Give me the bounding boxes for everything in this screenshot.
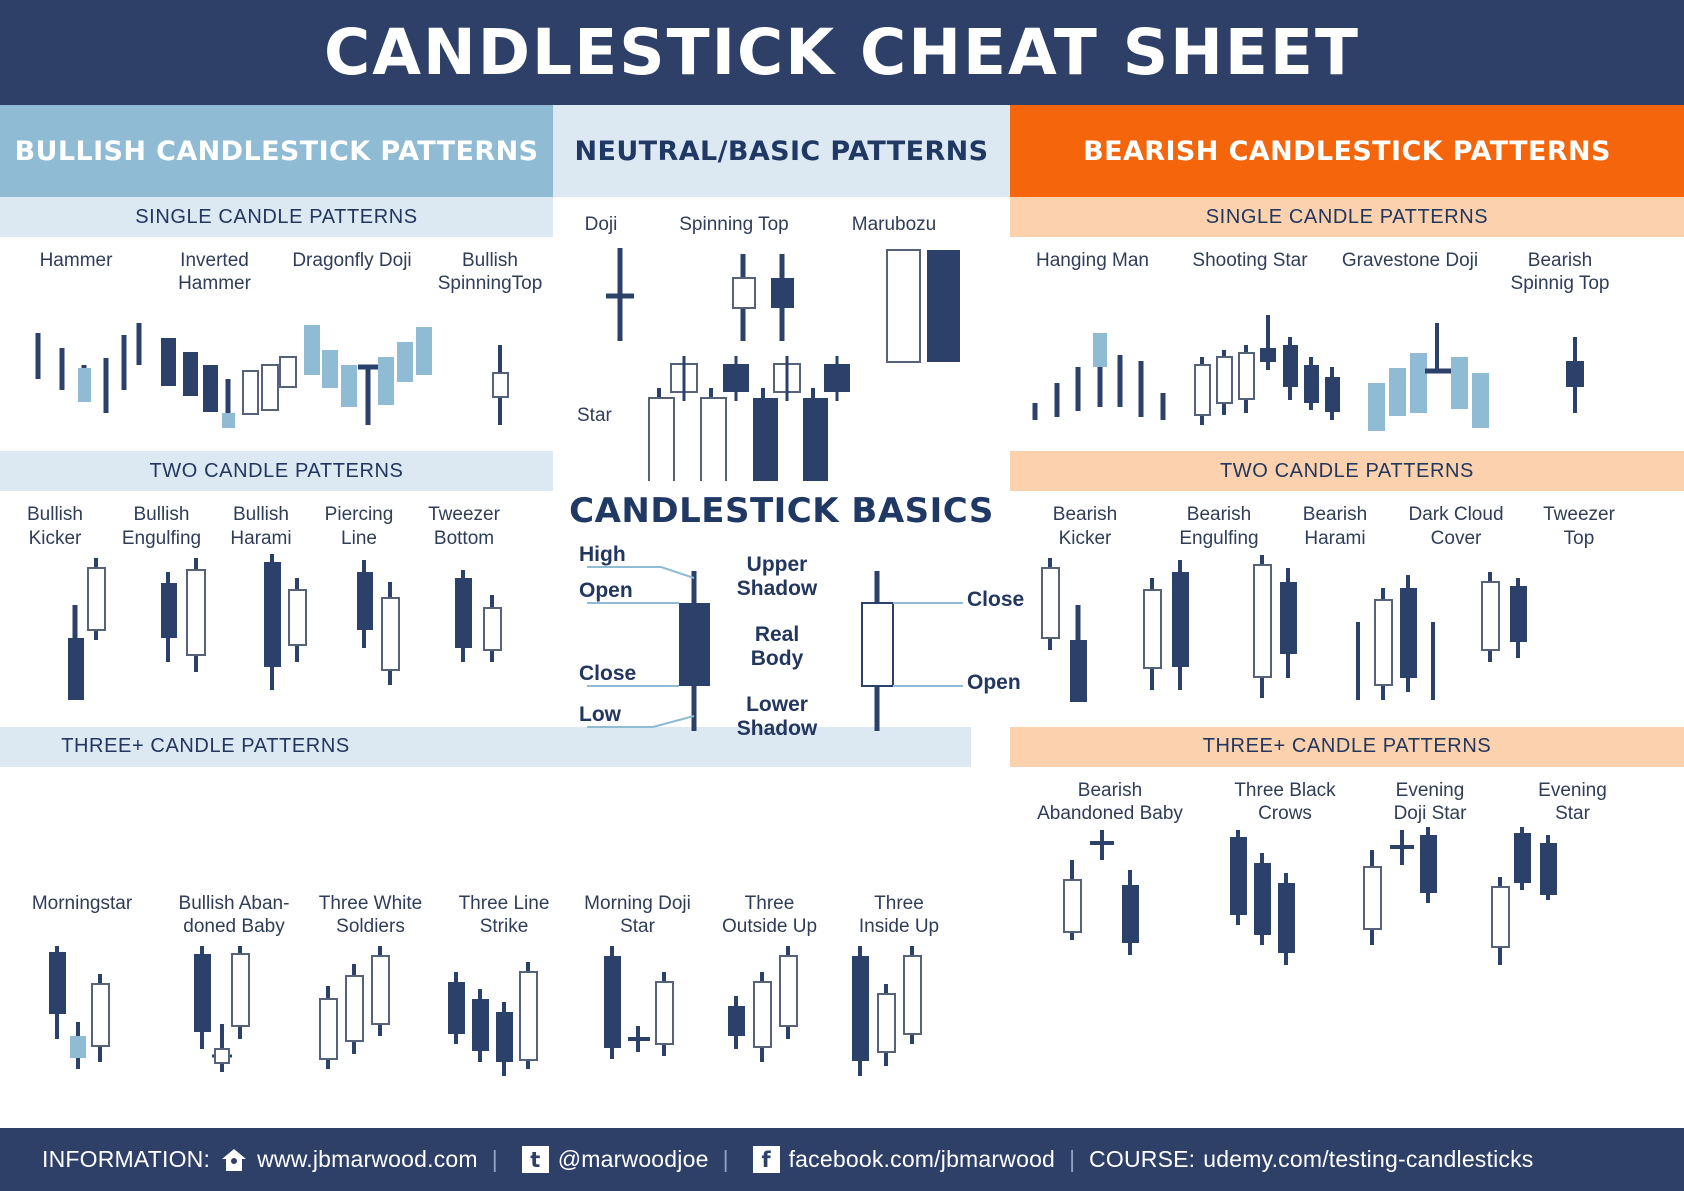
pattern-label: TweezerBottom [409, 491, 519, 549]
bearish-single-candles [1010, 295, 1684, 435]
column-header-neutral-label: NEUTRAL/BASIC PATTERNS [575, 136, 989, 167]
candle-body [78, 368, 91, 402]
bearish-single-band: SINGLE CANDLE PATTERNS [1010, 197, 1684, 237]
candlestick-basics-title: CANDLESTICK BASICS [553, 491, 1010, 531]
column-header-neutral: NEUTRAL/BASIC PATTERNS [553, 105, 1010, 197]
pattern-label: BearishSpinnig Top [1495, 237, 1625, 295]
footer-course-url[interactable]: udemy.com/testing-candlesticks [1203, 1146, 1533, 1173]
label-close: Close [579, 662, 636, 686]
label-high: High [579, 543, 626, 567]
pattern-label: ThreeInside Up [835, 880, 963, 938]
pattern-label: Three LineStrike [437, 880, 571, 938]
facebook-icon[interactable]: f [753, 1146, 780, 1173]
star-label: Star [577, 405, 612, 427]
bearish-single-band-label: SINGLE CANDLE PATTERNS [1206, 206, 1489, 229]
home-icon[interactable] [220, 1147, 248, 1173]
bearish-two-labels: BearishKicker BearishEngulfing BearishHa… [1010, 491, 1684, 549]
bearish-two-band-label: TWO CANDLE PATTERNS [1220, 460, 1474, 483]
bearish-two-band: TWO CANDLE PATTERNS [1010, 451, 1684, 491]
cheat-sheet-page: CANDLESTICK CHEAT SHEET BULLISH CANDLEST… [0, 0, 1684, 1191]
neutral-basic-labels: Doji Spinning Top Marubozu [553, 197, 1010, 236]
column-header-bullish: BULLISH CANDLESTICK PATTERNS [0, 105, 553, 197]
footer-course-label: COURSE: [1089, 1146, 1195, 1173]
bullish-single-candles [0, 295, 553, 435]
bearish-column: SINGLE CANDLE PATTERNS Hanging Man Shoot… [1010, 197, 1684, 1128]
footer-information-label: INFORMATION: [42, 1146, 210, 1173]
bullish-single-labels: Hammer InvertedHammer Dragonfly Doji Bul… [0, 237, 553, 295]
footer-separator-2: | [723, 1146, 729, 1173]
page-title: CANDLESTICK CHEAT SHEET [324, 16, 1360, 89]
bullish-two-candles [0, 550, 553, 715]
pattern-label: PiercingLine [309, 491, 409, 549]
footer-website[interactable]: www.jbmarwood.com [257, 1146, 478, 1173]
bullish-three-labels: Morningstar Bullish Aban-doned Baby Thre… [0, 880, 1010, 938]
bearish-single-labels: Hanging Man Shooting Star Gravestone Doj… [1010, 237, 1684, 295]
bullish-two-labels: BullishKicker BullishEngulfing BullishHa… [0, 491, 553, 549]
pattern-label: BullishSpinningTop [427, 237, 553, 295]
footer-separator-1: | [492, 1146, 498, 1173]
twitter-icon[interactable]: t [522, 1146, 549, 1173]
bullish-three-candles [0, 944, 1010, 1109]
pattern-label: ThreeOutside Up [704, 880, 835, 938]
pattern-label: Shooting Star [1175, 237, 1325, 295]
pattern-label: BearishKicker [1010, 491, 1160, 549]
label-lower-shadow: LowerShadow [721, 693, 833, 741]
footer-twitter[interactable]: @marwoodjoe [558, 1146, 709, 1173]
bullish-three-row: Morningstar Bullish Aban-doned Baby Thre… [0, 880, 1010, 1109]
column-header-bullish-label: BULLISH CANDLESTICK PATTERNS [15, 136, 539, 167]
page-title-bar: CANDLESTICK CHEAT SHEET [0, 0, 1684, 105]
neutral-basic-candles [553, 236, 1010, 481]
pattern-label: Three BlackCrows [1210, 767, 1360, 825]
pattern-label: BullishHarami [213, 491, 309, 549]
candlestick-basics-diagram: High Open Close Low UpperShadow RealBody… [553, 531, 1010, 776]
footer-facebook[interactable]: facebook.com/jbmarwood [789, 1146, 1055, 1173]
column-headers: BULLISH CANDLESTICK PATTERNS NEUTRAL/BAS… [0, 105, 1684, 197]
pattern-label: Morning DojiStar [571, 880, 704, 938]
footer-separator-3: | [1069, 1146, 1075, 1173]
pattern-label: Marubozu [819, 201, 969, 236]
label-low: Low [579, 703, 621, 727]
pattern-label: Gravestone Doji [1325, 237, 1495, 295]
pattern-label: Doji [553, 201, 649, 236]
pattern-label: BearishAbandoned Baby [1010, 767, 1210, 825]
pattern-label: Hanging Man [1010, 237, 1175, 295]
pattern-label: Dragonfly Doji [277, 237, 427, 295]
label-upper-shadow: UpperShadow [721, 553, 833, 601]
bullish-two-band: TWO CANDLE PATTERNS [0, 451, 553, 491]
pattern-label: BullishEngulfing [110, 491, 213, 549]
pattern-label: Spinning Top [649, 201, 819, 236]
pattern-label: Hammer [0, 237, 152, 295]
bullish-three-band-label: THREE+ CANDLE PATTERNS [61, 735, 350, 758]
bearish-three-band-label: THREE+ CANDLE PATTERNS [1203, 735, 1492, 758]
bullish-two-band-label: TWO CANDLE PATTERNS [149, 460, 403, 483]
pattern-label: EveningStar [1500, 767, 1645, 825]
pattern-label: BearishHarami [1278, 491, 1392, 549]
bearish-three-labels: BearishAbandoned Baby Three BlackCrows E… [1010, 767, 1684, 825]
bearish-two-candles [1010, 550, 1684, 715]
pattern-label: Bullish Aban-doned Baby [164, 880, 304, 938]
footer-bar: INFORMATION: www.jbmarwood.com | t @marw… [0, 1128, 1684, 1191]
bullish-single-band: SINGLE CANDLE PATTERNS [0, 197, 553, 237]
label-open: Open [579, 579, 633, 603]
bearish-three-candles [1010, 825, 1684, 985]
bullish-single-band-label: SINGLE CANDLE PATTERNS [135, 206, 418, 229]
pattern-label: BearishEngulfing [1160, 491, 1278, 549]
label-real-body: RealBody [721, 623, 833, 671]
pattern-label: Dark CloudCover [1392, 491, 1520, 549]
column-header-bearish-label: BEARISH CANDLESTICK PATTERNS [1083, 136, 1611, 167]
pattern-label: BullishKicker [0, 491, 110, 549]
pattern-label: EveningDoji Star [1360, 767, 1500, 825]
pattern-label: Three WhiteSoldiers [304, 880, 437, 938]
pattern-label: Morningstar [0, 880, 164, 938]
bearish-three-band: THREE+ CANDLE PATTERNS [1010, 727, 1684, 767]
pattern-label: TweezerTop [1520, 491, 1638, 549]
pattern-label: InvertedHammer [152, 237, 277, 295]
column-header-bearish: BEARISH CANDLESTICK PATTERNS [1010, 105, 1684, 197]
